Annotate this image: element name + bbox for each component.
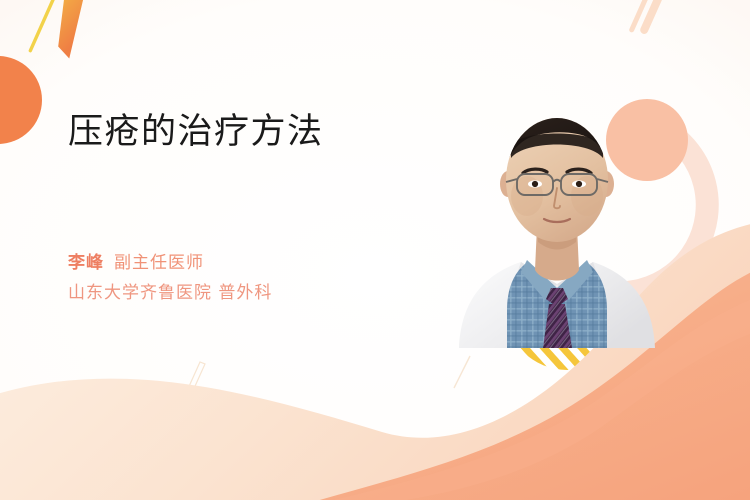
speaker-name: 李峰 — [68, 253, 104, 273]
speaker-name-line: 李峰副主任医师 — [68, 248, 448, 278]
speaker-title: 副主任医师 — [114, 253, 204, 273]
page-title: 压疮的治疗方法 — [68, 112, 428, 153]
title-block: 压疮的治疗方法 — [68, 112, 428, 153]
portrait-eye-right — [576, 181, 582, 187]
speaker-affiliation: 山东大学齐鲁医院 普外科 — [68, 283, 272, 303]
speaker-block: 李峰副主任医师 山东大学齐鲁医院 普外科 — [68, 248, 448, 308]
portrait-eye-left — [532, 181, 538, 187]
portrait-head — [502, 110, 612, 242]
slide-canvas: 压疮的治疗方法 李峰副主任医师 山东大学齐鲁医院 普外科 — [0, 0, 750, 500]
speaker-affiliation-line: 山东大学齐鲁医院 普外科 — [68, 278, 448, 308]
doctor-portrait — [455, 88, 665, 348]
